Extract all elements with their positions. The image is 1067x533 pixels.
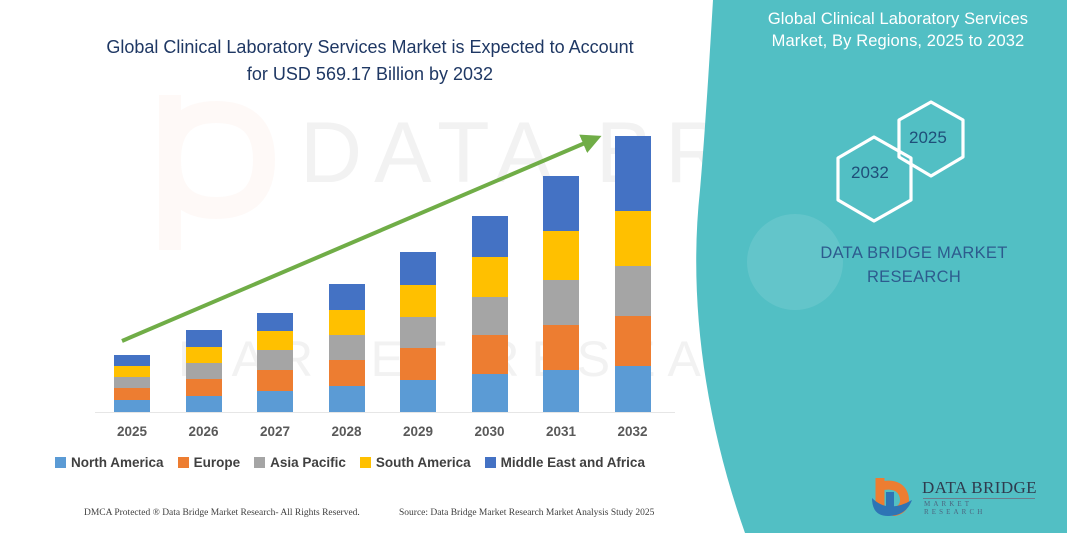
- hexagon-2032-label: 2032: [851, 163, 889, 183]
- bar-2028: [329, 284, 365, 412]
- legend-label: Europe: [194, 455, 241, 470]
- x-axis-tick-2029: 2029: [388, 424, 448, 439]
- legend-label: South America: [376, 455, 471, 470]
- x-axis-labels: 20252026202720282029203020312032: [0, 424, 700, 446]
- bar-segment: [257, 313, 293, 331]
- logo-title: DATA BRIDGE: [922, 478, 1037, 498]
- x-axis-tick-2026: 2026: [174, 424, 234, 439]
- bar-2031: [543, 176, 579, 412]
- legend-swatch-icon: [360, 457, 371, 468]
- legend-label: North America: [71, 455, 164, 470]
- bar-segment: [114, 388, 150, 400]
- bar-2029: [400, 252, 436, 412]
- axis-baseline: [95, 412, 675, 413]
- infographic-canvas: DATA BRIDGE MARKET RESEARCH Global Clini…: [0, 0, 1067, 533]
- bar-segment: [186, 396, 222, 412]
- bar-segment: [257, 391, 293, 412]
- panel-title-line-2: Market, By Regions, 2025 to 2032: [748, 30, 1048, 52]
- legend-item[interactable]: South America: [360, 455, 471, 470]
- logo-divider: [923, 498, 1035, 499]
- legend-swatch-icon: [178, 457, 189, 468]
- footer-copyright: DMCA Protected ® Data Bridge Market Rese…: [84, 508, 360, 518]
- legend-item[interactable]: Europe: [178, 455, 241, 470]
- bar-segment: [257, 370, 293, 391]
- bar-segment: [186, 379, 222, 396]
- bar-segment: [400, 317, 436, 348]
- bar-2030: [472, 216, 508, 412]
- bar-chart-plot: [0, 0, 700, 533]
- bar-2032: [615, 136, 651, 412]
- bar-segment: [472, 257, 508, 297]
- x-axis-tick-2030: 2030: [460, 424, 520, 439]
- bar-segment: [543, 280, 579, 325]
- legend-item[interactable]: North America: [55, 455, 164, 470]
- legend-swatch-icon: [254, 457, 265, 468]
- legend-swatch-icon: [55, 457, 66, 468]
- x-axis-tick-2025: 2025: [102, 424, 162, 439]
- panel-brand-line-1: DATA BRIDGE MARKET: [788, 242, 1040, 266]
- legend-label: Asia Pacific: [270, 455, 346, 470]
- bar-segment: [472, 374, 508, 412]
- bar-segment: [400, 252, 436, 285]
- bar-segment: [615, 366, 651, 412]
- bar-segment: [186, 330, 222, 347]
- panel-title-line-1: Global Clinical Laboratory Services: [748, 8, 1048, 30]
- bar-segment: [400, 285, 436, 317]
- bar-segment: [472, 297, 508, 335]
- logo-mark-icon: [866, 474, 920, 516]
- x-axis-tick-2028: 2028: [317, 424, 377, 439]
- panel-brand-line-2: RESEARCH: [788, 266, 1040, 290]
- bar-segment: [615, 316, 651, 366]
- bar-segment: [114, 377, 150, 388]
- legend-item[interactable]: Middle East and Africa: [485, 455, 645, 470]
- logo: DATA BRIDGE MARKET RESEARCH: [866, 474, 1038, 518]
- bar-segment: [329, 310, 365, 335]
- bar-segment: [615, 266, 651, 316]
- bar-segment: [329, 360, 365, 386]
- legend-label: Middle East and Africa: [501, 455, 645, 470]
- bar-segment: [400, 348, 436, 380]
- legend-swatch-icon: [485, 457, 496, 468]
- panel-title: Global Clinical Laboratory Services Mark…: [748, 8, 1048, 53]
- legend-item[interactable]: Asia Pacific: [254, 455, 346, 470]
- bar-segment: [114, 366, 150, 377]
- bar-segment: [543, 231, 579, 280]
- logo-subtitle: MARKET RESEARCH: [924, 500, 1038, 516]
- x-axis-tick-2027: 2027: [245, 424, 305, 439]
- bar-segment: [114, 355, 150, 366]
- x-axis-tick-2031: 2031: [531, 424, 591, 439]
- hexagon-2025-label: 2025: [909, 128, 947, 148]
- bar-2027: [257, 313, 293, 412]
- bar-segment: [257, 350, 293, 370]
- x-axis-tick-2032: 2032: [603, 424, 663, 439]
- panel-brand: DATA BRIDGE MARKET RESEARCH: [788, 242, 1040, 290]
- bar-segment: [257, 331, 293, 350]
- bar-segment: [400, 380, 436, 412]
- bar-segment: [329, 284, 365, 310]
- bar-segment: [329, 335, 365, 360]
- bar-segment: [543, 176, 579, 231]
- bar-segment: [472, 335, 508, 374]
- bar-segment: [615, 136, 651, 211]
- bar-segment: [114, 400, 150, 412]
- bar-segment: [186, 363, 222, 379]
- bar-segment: [543, 370, 579, 412]
- bar-segment: [186, 347, 222, 363]
- bar-segment: [543, 325, 579, 370]
- bar-segment: [329, 386, 365, 412]
- chart-legend: North AmericaEuropeAsia PacificSouth Ame…: [0, 455, 700, 470]
- footer-source: Source: Data Bridge Market Research Mark…: [399, 508, 654, 518]
- bar-segment: [615, 211, 651, 266]
- bar-2025: [114, 355, 150, 412]
- bar-segment: [472, 216, 508, 257]
- bar-2026: [186, 330, 222, 412]
